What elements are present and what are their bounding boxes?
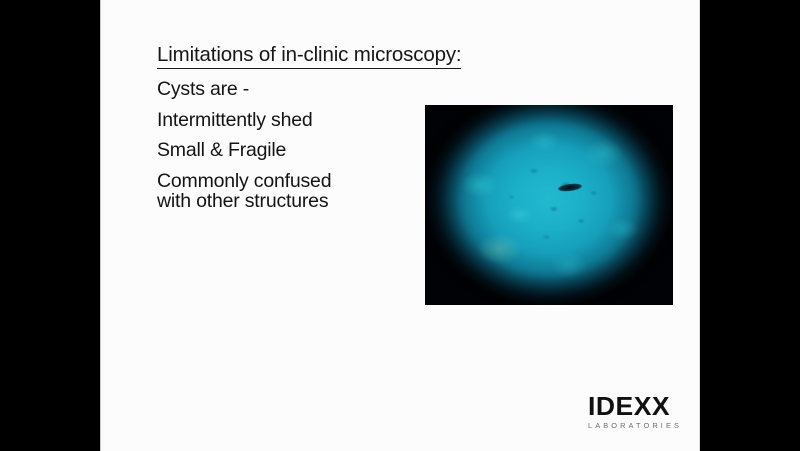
- bullet-item-1: Cysts are -: [157, 80, 487, 100]
- microscopy-image: [425, 105, 673, 305]
- micrograph-vignette: [425, 105, 673, 305]
- idexx-wordmark: IDEXX: [588, 393, 692, 419]
- video-letterbox-frame: Limitations of in-clinic microscopy: Cys…: [0, 0, 800, 451]
- presentation-slide: Limitations of in-clinic microscopy: Cys…: [100, 0, 700, 451]
- idexx-logo: IDEXX LABORATORIES: [588, 393, 690, 429]
- slide-title: Limitations of in-clinic microscopy:: [157, 44, 461, 69]
- idexx-tagline: LABORATORIES: [588, 422, 690, 429]
